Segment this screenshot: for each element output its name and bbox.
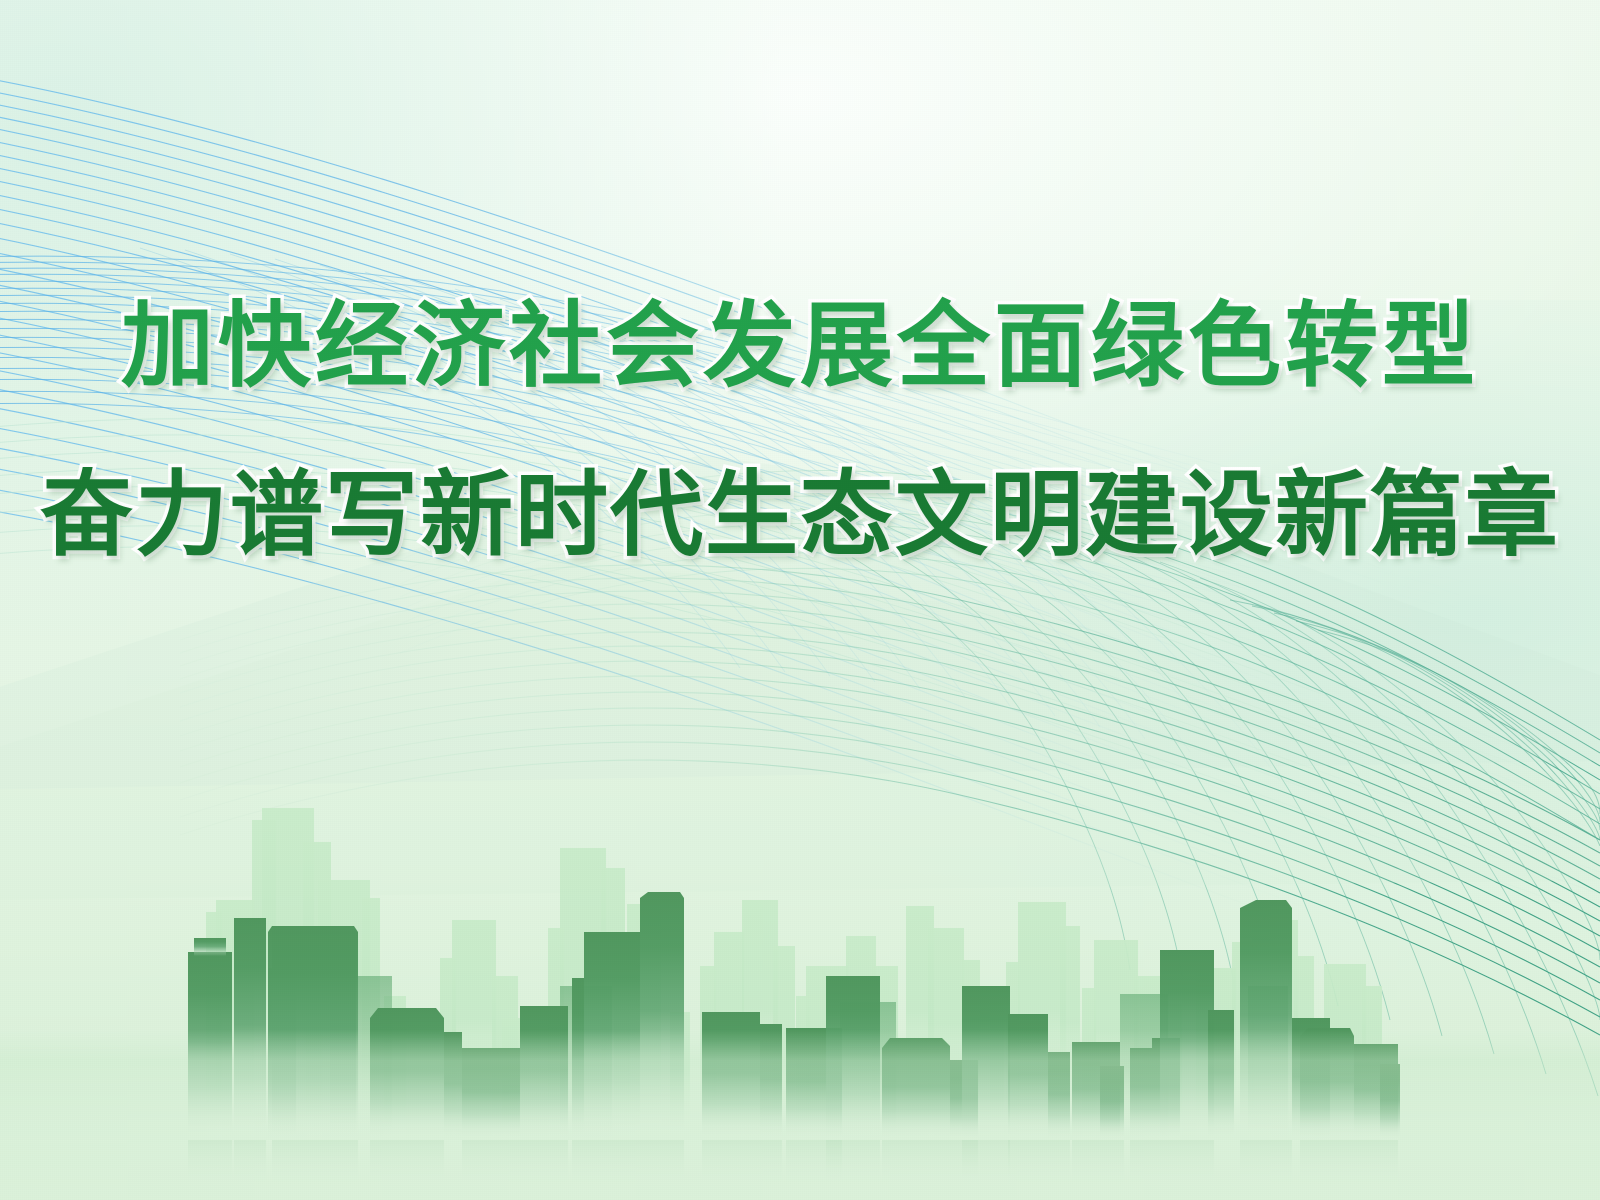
headline-line-1: 加快经济社会发展全面绿色转型 bbox=[0, 300, 1600, 393]
poster-canvas: 加快经济社会发展全面绿色转型 奋力谱写新时代生态文明建设新篇章 bbox=[0, 0, 1600, 1200]
headline-line-2: 奋力谱写新时代生态文明建设新篇章 bbox=[0, 469, 1600, 562]
headline-block: 加快经济社会发展全面绿色转型 奋力谱写新时代生态文明建设新篇章 bbox=[0, 300, 1600, 562]
